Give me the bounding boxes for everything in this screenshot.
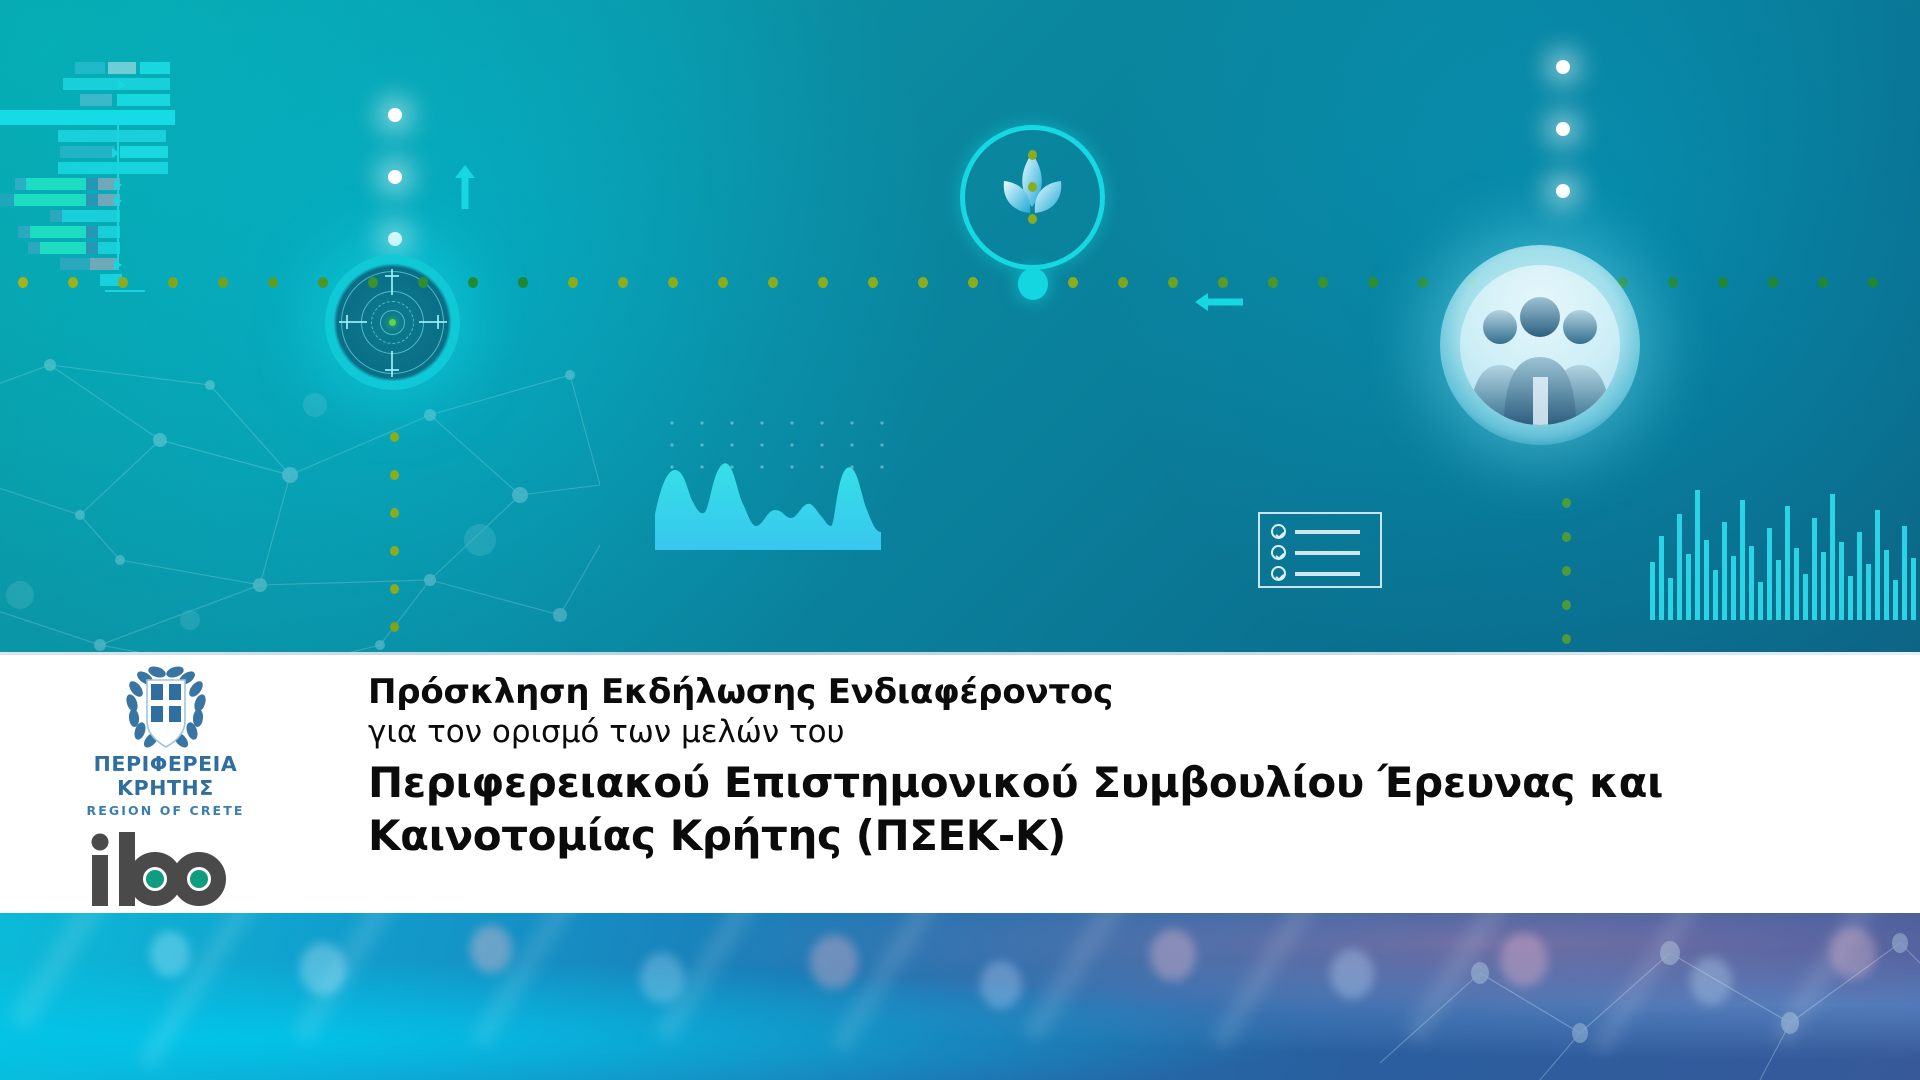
glow-dot <box>388 108 402 122</box>
people-group-icon <box>1440 245 1640 445</box>
poster-canvas: ΠΕΡΙΦΕΡΕΙΑ ΚΡΗΤΗΣ REGION OF CRETE Πρόσκλ… <box>0 0 1920 1080</box>
list-line <box>1295 530 1360 534</box>
poster-subkicker: για τον ορισμό των μελών του <box>368 713 1908 752</box>
title-group: Πρόσκληση Εκδήλωσης Ενδιαφέροντος για το… <box>368 675 1908 862</box>
code-bars-icon <box>0 62 270 292</box>
network-mesh-icon <box>0 345 600 655</box>
ibo-logo-icon <box>83 832 248 906</box>
poster-kicker: Πρόσκληση Εκδήλωσης Ενδιαφέροντος <box>368 675 1908 711</box>
dotted-timeline-icon <box>0 277 1920 291</box>
poster-title-line-2: Καινοτομίας Κρήτης (ΠΣΕΚ-Κ) <box>368 810 1908 862</box>
area-chart-icon <box>655 440 920 550</box>
dotted-connector <box>1562 498 1572 655</box>
region-name-greek: ΠΕΡΙΦΕΡΕΙΑ ΚΡΗΤΗΣ <box>58 752 273 800</box>
glow-dot <box>388 232 402 246</box>
checklist-card-icon <box>1258 512 1382 588</box>
check-circle-icon <box>1271 524 1286 539</box>
list-line <box>1295 551 1360 555</box>
radar-target-icon <box>325 255 460 390</box>
check-circle-icon <box>1271 545 1286 560</box>
check-circle-icon <box>1271 566 1286 581</box>
glow-dot <box>1556 184 1570 198</box>
footer-network-mesh-icon <box>1340 913 1920 1080</box>
greek-coat-of-arms-icon <box>120 663 212 751</box>
list-line <box>1295 572 1360 576</box>
region-name-english: REGION OF CRETE <box>58 803 273 818</box>
glow-dot <box>388 170 402 184</box>
arrow-left-icon <box>1195 293 1243 311</box>
dotted-connector <box>390 432 400 655</box>
title-band: ΠΕΡΙΦΕΡΕΙΑ ΚΡΗΤΗΣ REGION OF CRETE Πρόσκλ… <box>0 655 1920 913</box>
timeline-node <box>1018 268 1048 300</box>
logo-group: ΠΕΡΙΦΕΡΕΙΑ ΚΡΗΤΗΣ REGION OF CRETE <box>58 663 273 910</box>
footer-banner <box>0 913 1920 1080</box>
dotted-connector <box>1028 150 1038 265</box>
arrow-up-icon <box>455 165 475 209</box>
hero-banner <box>0 0 1920 655</box>
poster-title-line-1: Περιφερειακού Επιστημονικού Συμβουλίου Έ… <box>368 757 1908 809</box>
equalizer-bars-icon <box>1650 470 1920 620</box>
glow-dot <box>1556 122 1570 136</box>
glow-dot <box>1556 60 1570 74</box>
